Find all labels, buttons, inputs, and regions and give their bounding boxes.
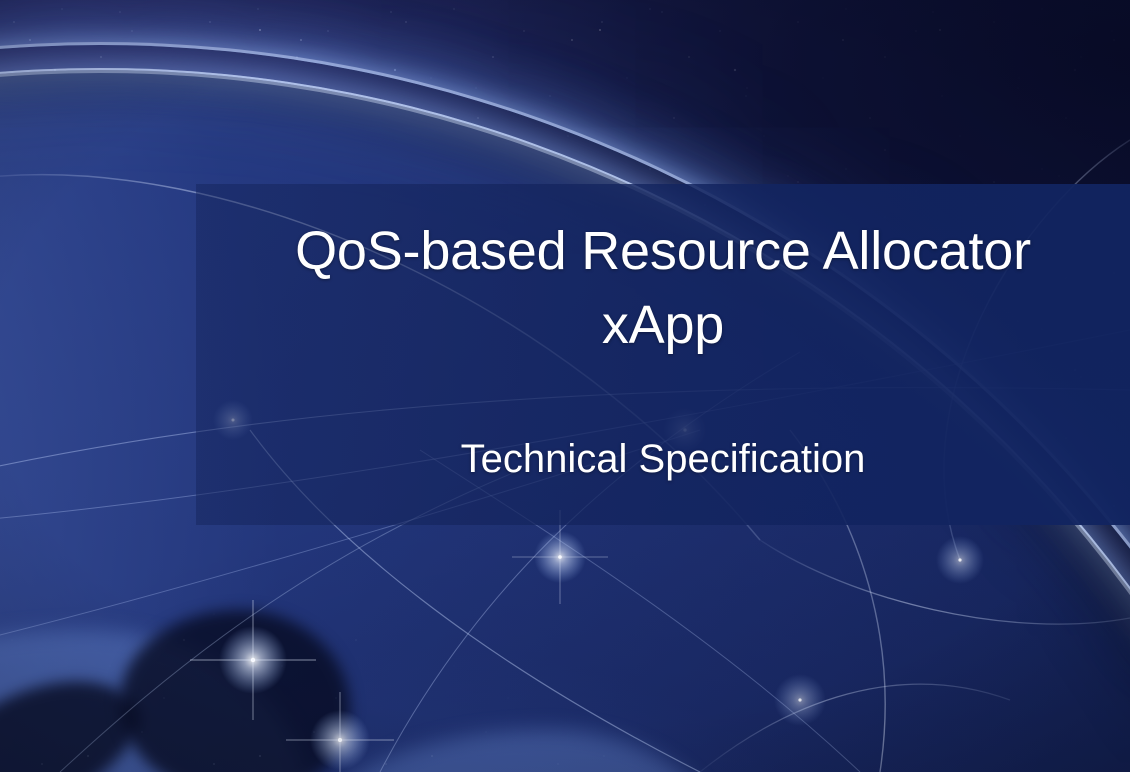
title-overlay-panel: QoS-based Resource Allocator xApp Techni…	[196, 184, 1130, 525]
page-subtitle: Technical Specification	[461, 362, 866, 484]
page-title: QoS-based Resource Allocator xApp	[243, 184, 1083, 362]
title-slide: QoS-based Resource Allocator xApp Techni…	[0, 0, 1130, 772]
